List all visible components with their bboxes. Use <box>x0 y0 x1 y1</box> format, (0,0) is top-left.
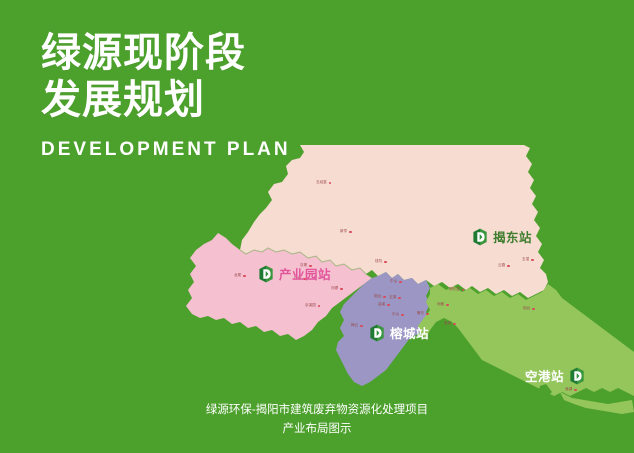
station-marker-rongcheng[interactable]: 榕城站 <box>369 323 429 342</box>
station-label: 产业园站 <box>279 264 331 283</box>
slide-canvas: 绿源现阶段 发展规划 DEVELOPMENT PLAN 产业园站 揭东站 榕城站 <box>0 0 634 453</box>
station-marker-jiedong[interactable]: 揭东站 <box>472 227 532 246</box>
map-illustration <box>0 0 634 453</box>
station-label: 揭东站 <box>493 227 532 246</box>
leaf-logo-icon <box>258 265 274 283</box>
leaf-logo-icon <box>369 324 385 342</box>
station-marker-konggang[interactable]: 空港站 <box>525 366 585 385</box>
station-marker-chanyeyuan[interactable]: 产业园站 <box>258 264 331 283</box>
leaf-logo-icon <box>569 367 585 385</box>
leaf-logo-icon <box>472 228 488 246</box>
station-label: 榕城站 <box>390 323 429 342</box>
station-label: 空港站 <box>525 366 564 385</box>
